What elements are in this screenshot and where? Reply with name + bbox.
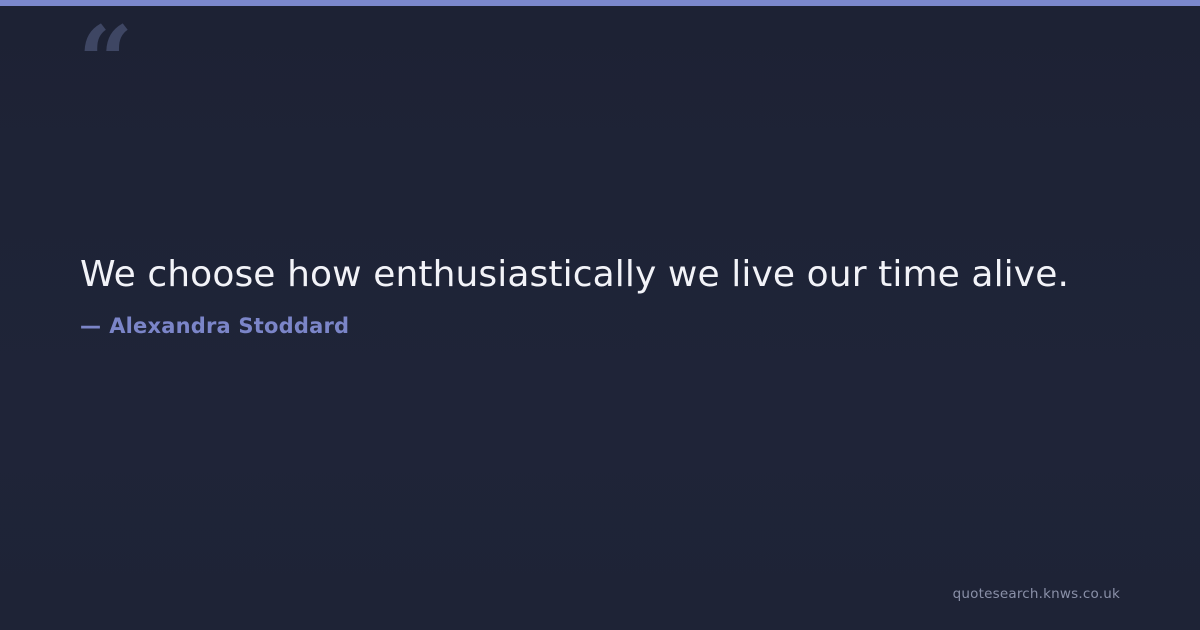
quote-attribution: —Alexandra Stoddard xyxy=(80,314,1120,339)
quote-text: We choose how enthusiastically we live o… xyxy=(80,252,1120,298)
quote-content: We choose how enthusiastically we live o… xyxy=(80,252,1120,339)
em-dash: — xyxy=(80,314,101,338)
author-name: Alexandra Stoddard xyxy=(109,314,349,338)
quotation-mark-icon: “ xyxy=(78,14,131,110)
quote-card: “ We choose how enthusiastically we live… xyxy=(0,0,1200,630)
site-watermark: quotesearch.knws.co.uk xyxy=(953,586,1120,602)
top-accent-bar xyxy=(0,0,1200,6)
